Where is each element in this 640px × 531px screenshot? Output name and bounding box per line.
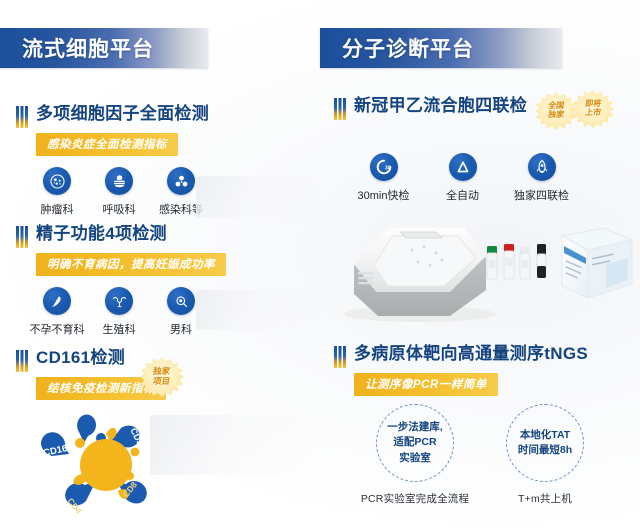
background-panel	[196, 290, 320, 330]
section-title: 多项细胞因子全面检测	[36, 104, 209, 124]
auto-triangle-icon	[449, 153, 477, 181]
feature-caption: PCR实验室完成全流程	[350, 491, 480, 506]
feature-label: 全自动	[423, 187, 502, 203]
cells-petri-icon	[43, 167, 71, 195]
section-tngs: 多病原体靶向高通量测序tNGS 让测序像PCR一样简单	[334, 344, 588, 396]
tngs-feature-item: 一步法建库, 适配PCR 实验室 PCR实验室完成全流程	[350, 404, 480, 506]
platform-header-molecular-diagnostics: 分子诊断平台	[320, 28, 562, 68]
feature-item: 全自动	[423, 153, 502, 203]
department-label: 肿瘤科	[26, 201, 88, 217]
department-label: 不孕不育科	[26, 321, 88, 337]
department-item: 呼吸科	[88, 167, 150, 217]
tngs-feature-item: 本地化TAT 时间最短8h T+m共上机	[480, 404, 610, 506]
feature-line: 时间最短8h	[518, 443, 572, 458]
face-mask-icon	[105, 167, 133, 195]
feature-line: 本地化TAT	[518, 428, 572, 443]
platform-title: 流式细胞平台	[0, 33, 154, 63]
department-item: 生殖科	[88, 287, 150, 337]
section-title: 新冠甲乙流合胞四联检	[354, 96, 527, 116]
section-subtitle: 让测序像PCR一样简单	[354, 373, 498, 396]
right-column: 分子诊断平台 新冠甲乙流合胞四联检 全国 独家 即将 上市 30 30min快检	[320, 0, 640, 531]
department-icon-row: 肿瘤科 呼吸科 感染科等	[26, 167, 212, 217]
section-sperm-function: 精子功能4项检测 明确不育病因，提高妊娠成功率 不孕不育科 生殖科	[16, 224, 226, 337]
section-header: 精子功能4项检测	[16, 224, 226, 248]
left-column: 流式细胞平台 多项细胞因子全面检测 感染炎症全面检测指标 肿瘤科	[0, 0, 320, 531]
platform-title: 分子诊断平台	[320, 33, 474, 63]
background-panel	[196, 176, 320, 218]
section-marker-icon	[16, 226, 29, 248]
uterus-icon	[105, 287, 133, 315]
feature-circle-text: 本地化TAT 时间最短8h	[518, 428, 572, 458]
feature-item: 30 30min快检	[344, 153, 423, 203]
biohazard-icon	[167, 167, 195, 195]
section-header: 新冠甲乙流合胞四联检	[334, 96, 527, 120]
section-title: 多病原体靶向高通量测序tNGS	[354, 344, 588, 364]
feature-caption: T+m共上机	[480, 491, 610, 506]
feature-label: 独家四联检	[502, 187, 581, 203]
section-respiratory-quad-panel: 新冠甲乙流合胞四联检	[334, 96, 527, 120]
marketing-poster: 流式细胞平台 多项细胞因子全面检测 感染炎症全面检测指标 肿瘤科	[0, 0, 640, 531]
svg-text:30: 30	[384, 166, 390, 172]
badge-line: 上市	[584, 109, 601, 118]
department-item: 肿瘤科	[26, 167, 88, 217]
tngs-feature-row: 一步法建库, 适配PCR 实验室 PCR实验室完成全流程 本地化TAT 时间最短…	[350, 404, 610, 506]
section-header: CD161检测	[16, 348, 166, 372]
section-marker-icon	[334, 346, 347, 368]
feature-circle: 一步法建库, 适配PCR 实验室	[376, 404, 454, 482]
department-item: 不孕不育科	[26, 287, 88, 337]
coming-soon-badge: 即将 上市	[572, 90, 614, 128]
section-title: 精子功能4项检测	[36, 224, 167, 244]
section-header: 多病原体靶向高通量测序tNGS	[334, 344, 588, 368]
feature-line: 适配PCR	[387, 435, 442, 450]
feature-label: 30min快检	[344, 187, 423, 203]
stopwatch-30-icon: 30	[370, 153, 398, 181]
feature-item: 独家四联检	[502, 153, 581, 203]
rocket-icon	[528, 153, 556, 181]
sperm-icon	[43, 287, 71, 315]
section-marker-icon	[16, 350, 29, 372]
male-reproductive-icon	[167, 287, 195, 315]
section-cytokine-panel: 多项细胞因子全面检测 感染炎症全面检测指标 肿瘤科 呼吸科	[16, 104, 212, 217]
section-subtitle: 感染炎症全面检测指标	[36, 133, 178, 156]
section-title: CD161检测	[36, 348, 125, 368]
pcr-analyzer-product-photo	[330, 206, 640, 331]
feature-line: 实验室	[387, 451, 442, 466]
platform-header-flow-cytometry: 流式细胞平台	[0, 28, 208, 68]
department-label: 呼吸科	[88, 201, 150, 217]
background-panel	[150, 415, 315, 475]
section-marker-icon	[16, 106, 29, 128]
department-label: 生殖科	[88, 321, 150, 337]
section-header: 多项细胞因子全面检测	[16, 104, 212, 128]
badge-line: 独家	[547, 111, 564, 120]
nationwide-exclusive-badge: 全国 独家	[535, 92, 577, 130]
feature-line: 一步法建库,	[387, 420, 442, 435]
feature-circle: 本地化TAT 时间最短8h	[506, 404, 584, 482]
section-cd161: CD161检测 结核免疫检测新指标	[16, 348, 166, 400]
badge-line: 项目	[153, 377, 172, 387]
section-marker-icon	[334, 98, 347, 120]
feature-icon-row: 30 30min快检 全自动 独家四联检	[344, 153, 581, 203]
feature-circle-text: 一步法建库, 适配PCR 实验室	[387, 420, 442, 466]
section-subtitle: 明确不育病因，提高妊娠成功率	[36, 253, 226, 276]
